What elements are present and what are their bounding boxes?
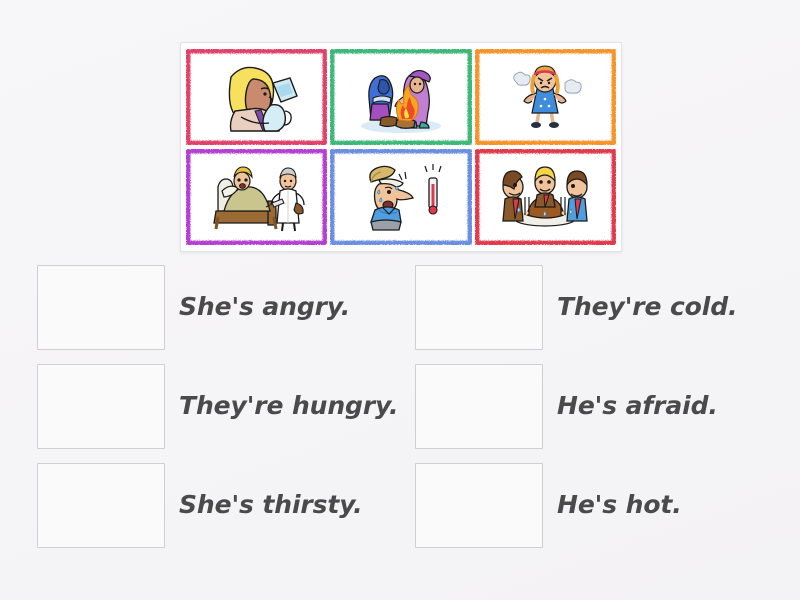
answer-label-cold: They're cold. [557, 293, 785, 322]
answer-label-thirsty: She's thirsty. [179, 491, 407, 520]
answer-label-afraid: He's afraid. [557, 392, 785, 421]
activity-stage: She's angry. They're hungry. She's thirs… [0, 0, 800, 600]
image-card-angry[interactable] [475, 49, 616, 145]
card-illustration-cold [336, 55, 465, 139]
answer-row: He's afraid. [415, 364, 785, 449]
card-illustration-hot [336, 155, 465, 239]
answer-label-hot: He's hot. [557, 491, 785, 520]
card-illustration-angry [481, 55, 610, 139]
answer-row: She's thirsty. [37, 463, 407, 548]
dropbox-thirsty[interactable] [37, 463, 165, 548]
image-card-afraid[interactable] [186, 149, 327, 245]
dropbox-hungry[interactable] [37, 364, 165, 449]
answer-row: He's hot. [415, 463, 785, 548]
image-card-hot[interactable] [330, 149, 471, 245]
image-bank-panel [180, 42, 622, 252]
dropbox-angry[interactable] [37, 265, 165, 350]
answer-label-angry: She's angry. [179, 293, 407, 322]
answer-row: They're hungry. [37, 364, 407, 449]
dropbox-cold[interactable] [415, 265, 543, 350]
image-card-cold[interactable] [330, 49, 471, 145]
answer-row: She's angry. [37, 265, 407, 350]
image-bank-grid [186, 49, 616, 245]
card-illustration-hungry [481, 155, 610, 239]
answer-label-hungry: They're hungry. [179, 392, 407, 421]
card-illustration-thirsty [192, 55, 321, 139]
card-illustration-afraid [192, 155, 321, 239]
dropbox-hot[interactable] [415, 463, 543, 548]
image-card-hungry[interactable] [475, 149, 616, 245]
dropbox-afraid[interactable] [415, 364, 543, 449]
answer-row: They're cold. [415, 265, 785, 350]
image-card-thirsty[interactable] [186, 49, 327, 145]
